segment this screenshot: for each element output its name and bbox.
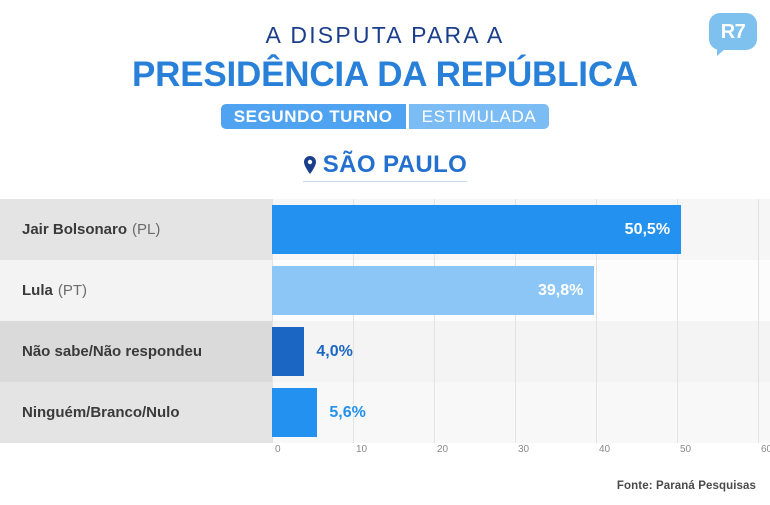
axis-tick-label: 30	[515, 445, 529, 455]
candidate-name: Ninguém/Branco/Nulo	[22, 404, 180, 421]
badge-round: SEGUNDO TURNO	[221, 104, 406, 129]
badge-group: SEGUNDO TURNO ESTIMULADA	[0, 104, 770, 129]
kicker-text: A DISPUTA PARA A	[0, 24, 770, 47]
table-row: Lula (PT) 39,8%	[0, 260, 770, 321]
bar	[272, 388, 317, 437]
bar-track: 39,8%	[272, 260, 770, 321]
axis-tick-label: 0	[272, 445, 281, 455]
badge-type: ESTIMULADA	[409, 104, 550, 129]
bar-track: 4,0%	[272, 321, 770, 382]
page-title: PRESIDÊNCIA DA REPÚBLICA	[0, 57, 770, 92]
chart-rows: Jair Bolsonaro (PL) 50,5% Lula (PT) 39,8…	[0, 199, 770, 443]
bar-value: 39,8%	[538, 283, 594, 299]
candidate-name: Não sabe/Não respondeu	[22, 343, 202, 360]
candidate-name: Jair Bolsonaro	[22, 221, 127, 238]
candidate-party: (PL)	[132, 221, 160, 238]
bar-track: 50,5%	[272, 199, 770, 260]
axis-tick-label: 50	[677, 445, 691, 455]
candidate-label: Não sabe/Não respondeu	[0, 321, 272, 382]
bar: 39,8%	[272, 266, 594, 315]
table-row: Não sabe/Não respondeu 4,0%	[0, 321, 770, 382]
source-credit: Fonte: Paraná Pesquisas	[617, 480, 756, 492]
table-row: Ninguém/Branco/Nulo 5,6%	[0, 382, 770, 443]
header: A DISPUTA PARA A PRESIDÊNCIA DA REPÚBLIC…	[0, 0, 770, 182]
map-pin-icon	[303, 156, 317, 174]
axis-tick-label: 10	[353, 445, 367, 455]
candidate-label: Ninguém/Branco/Nulo	[0, 382, 272, 443]
poll-bar-chart: Jair Bolsonaro (PL) 50,5% Lula (PT) 39,8…	[0, 199, 770, 451]
axis-tick-label: 20	[434, 445, 448, 455]
location-label: SÃO PAULO	[303, 153, 468, 182]
bar: 50,5%	[272, 205, 681, 254]
bar-value: 5,6%	[329, 382, 365, 443]
x-axis: 0102030405060	[272, 445, 770, 463]
table-row: Jair Bolsonaro (PL) 50,5%	[0, 199, 770, 260]
logo-text: R7	[721, 22, 746, 42]
candidate-name: Lula	[22, 282, 53, 299]
candidate-label: Jair Bolsonaro (PL)	[0, 199, 272, 260]
axis-tick-label: 60	[758, 445, 770, 455]
bar	[272, 327, 304, 376]
bar-value: 50,5%	[625, 222, 681, 238]
candidate-party: (PT)	[58, 282, 87, 299]
candidate-label: Lula (PT)	[0, 260, 272, 321]
axis-tick-label: 40	[596, 445, 610, 455]
location-name: SÃO PAULO	[323, 153, 468, 177]
bar-value: 4,0%	[316, 321, 352, 382]
bar-track: 5,6%	[272, 382, 770, 443]
